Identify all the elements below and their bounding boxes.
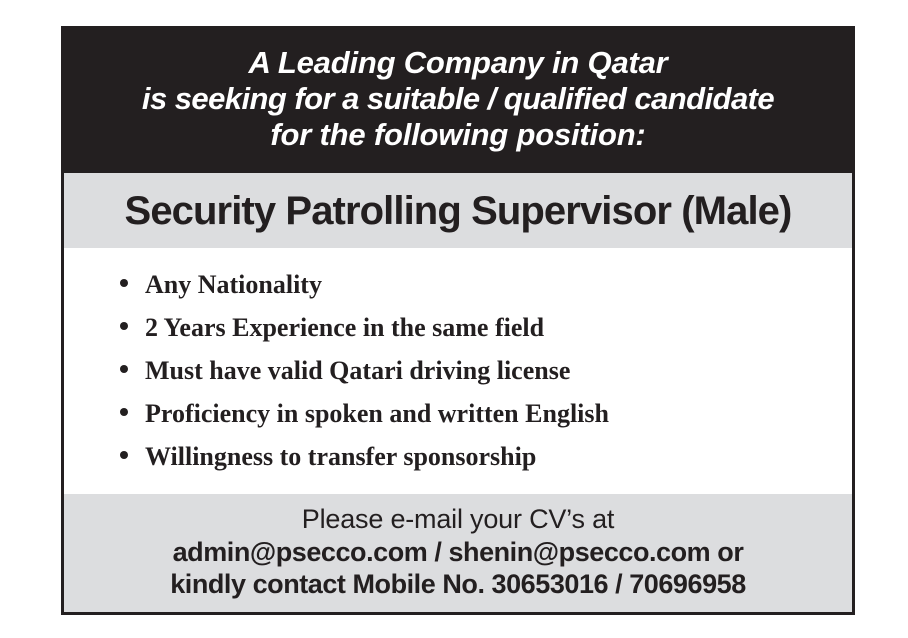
- header-line-3: for the following position:: [270, 117, 645, 153]
- contact-band: Please e-mail your CV’s at admin@psecco.…: [64, 494, 852, 612]
- bullet-icon: [120, 408, 128, 416]
- job-title-band: Security Patrolling Supervisor (Male): [64, 173, 852, 248]
- requirement-text: Proficiency in spoken and written Englis…: [145, 401, 609, 427]
- requirements-list: Any Nationality 2 Years Experience in th…: [64, 248, 852, 494]
- advertisement-header: A Leading Company in Qatar is seeking fo…: [64, 29, 852, 173]
- bullet-icon: [120, 365, 128, 373]
- job-advertisement-card: A Leading Company in Qatar is seeking fo…: [61, 26, 855, 615]
- header-line-1: A Leading Company in Qatar: [248, 45, 667, 81]
- contact-phone-numbers[interactable]: kindly contact Mobile No. 30653016 / 706…: [170, 568, 746, 600]
- bullet-icon: [120, 451, 128, 459]
- job-title: Security Patrolling Supervisor (Male): [125, 191, 792, 231]
- requirement-text: Must have valid Qatari driving license: [145, 358, 570, 384]
- list-item: Proficiency in spoken and written Englis…: [64, 401, 852, 427]
- requirement-text: Willingness to transfer sponsorship: [145, 444, 536, 470]
- requirement-text: 2 Years Experience in the same field: [145, 315, 544, 341]
- contact-emails[interactable]: admin@psecco.com / shenin@psecco.com or: [173, 536, 744, 568]
- list-item: Any Nationality: [64, 272, 852, 298]
- requirement-text: Any Nationality: [145, 272, 322, 298]
- list-item: 2 Years Experience in the same field: [64, 315, 852, 341]
- bullet-icon: [120, 322, 128, 330]
- header-line-2: is seeking for a suitable / qualified ca…: [142, 81, 774, 117]
- list-item: Willingness to transfer sponsorship: [64, 444, 852, 470]
- list-item: Must have valid Qatari driving license: [64, 358, 852, 384]
- contact-instruction: Please e-mail your CV’s at: [302, 503, 614, 535]
- bullet-icon: [120, 279, 128, 287]
